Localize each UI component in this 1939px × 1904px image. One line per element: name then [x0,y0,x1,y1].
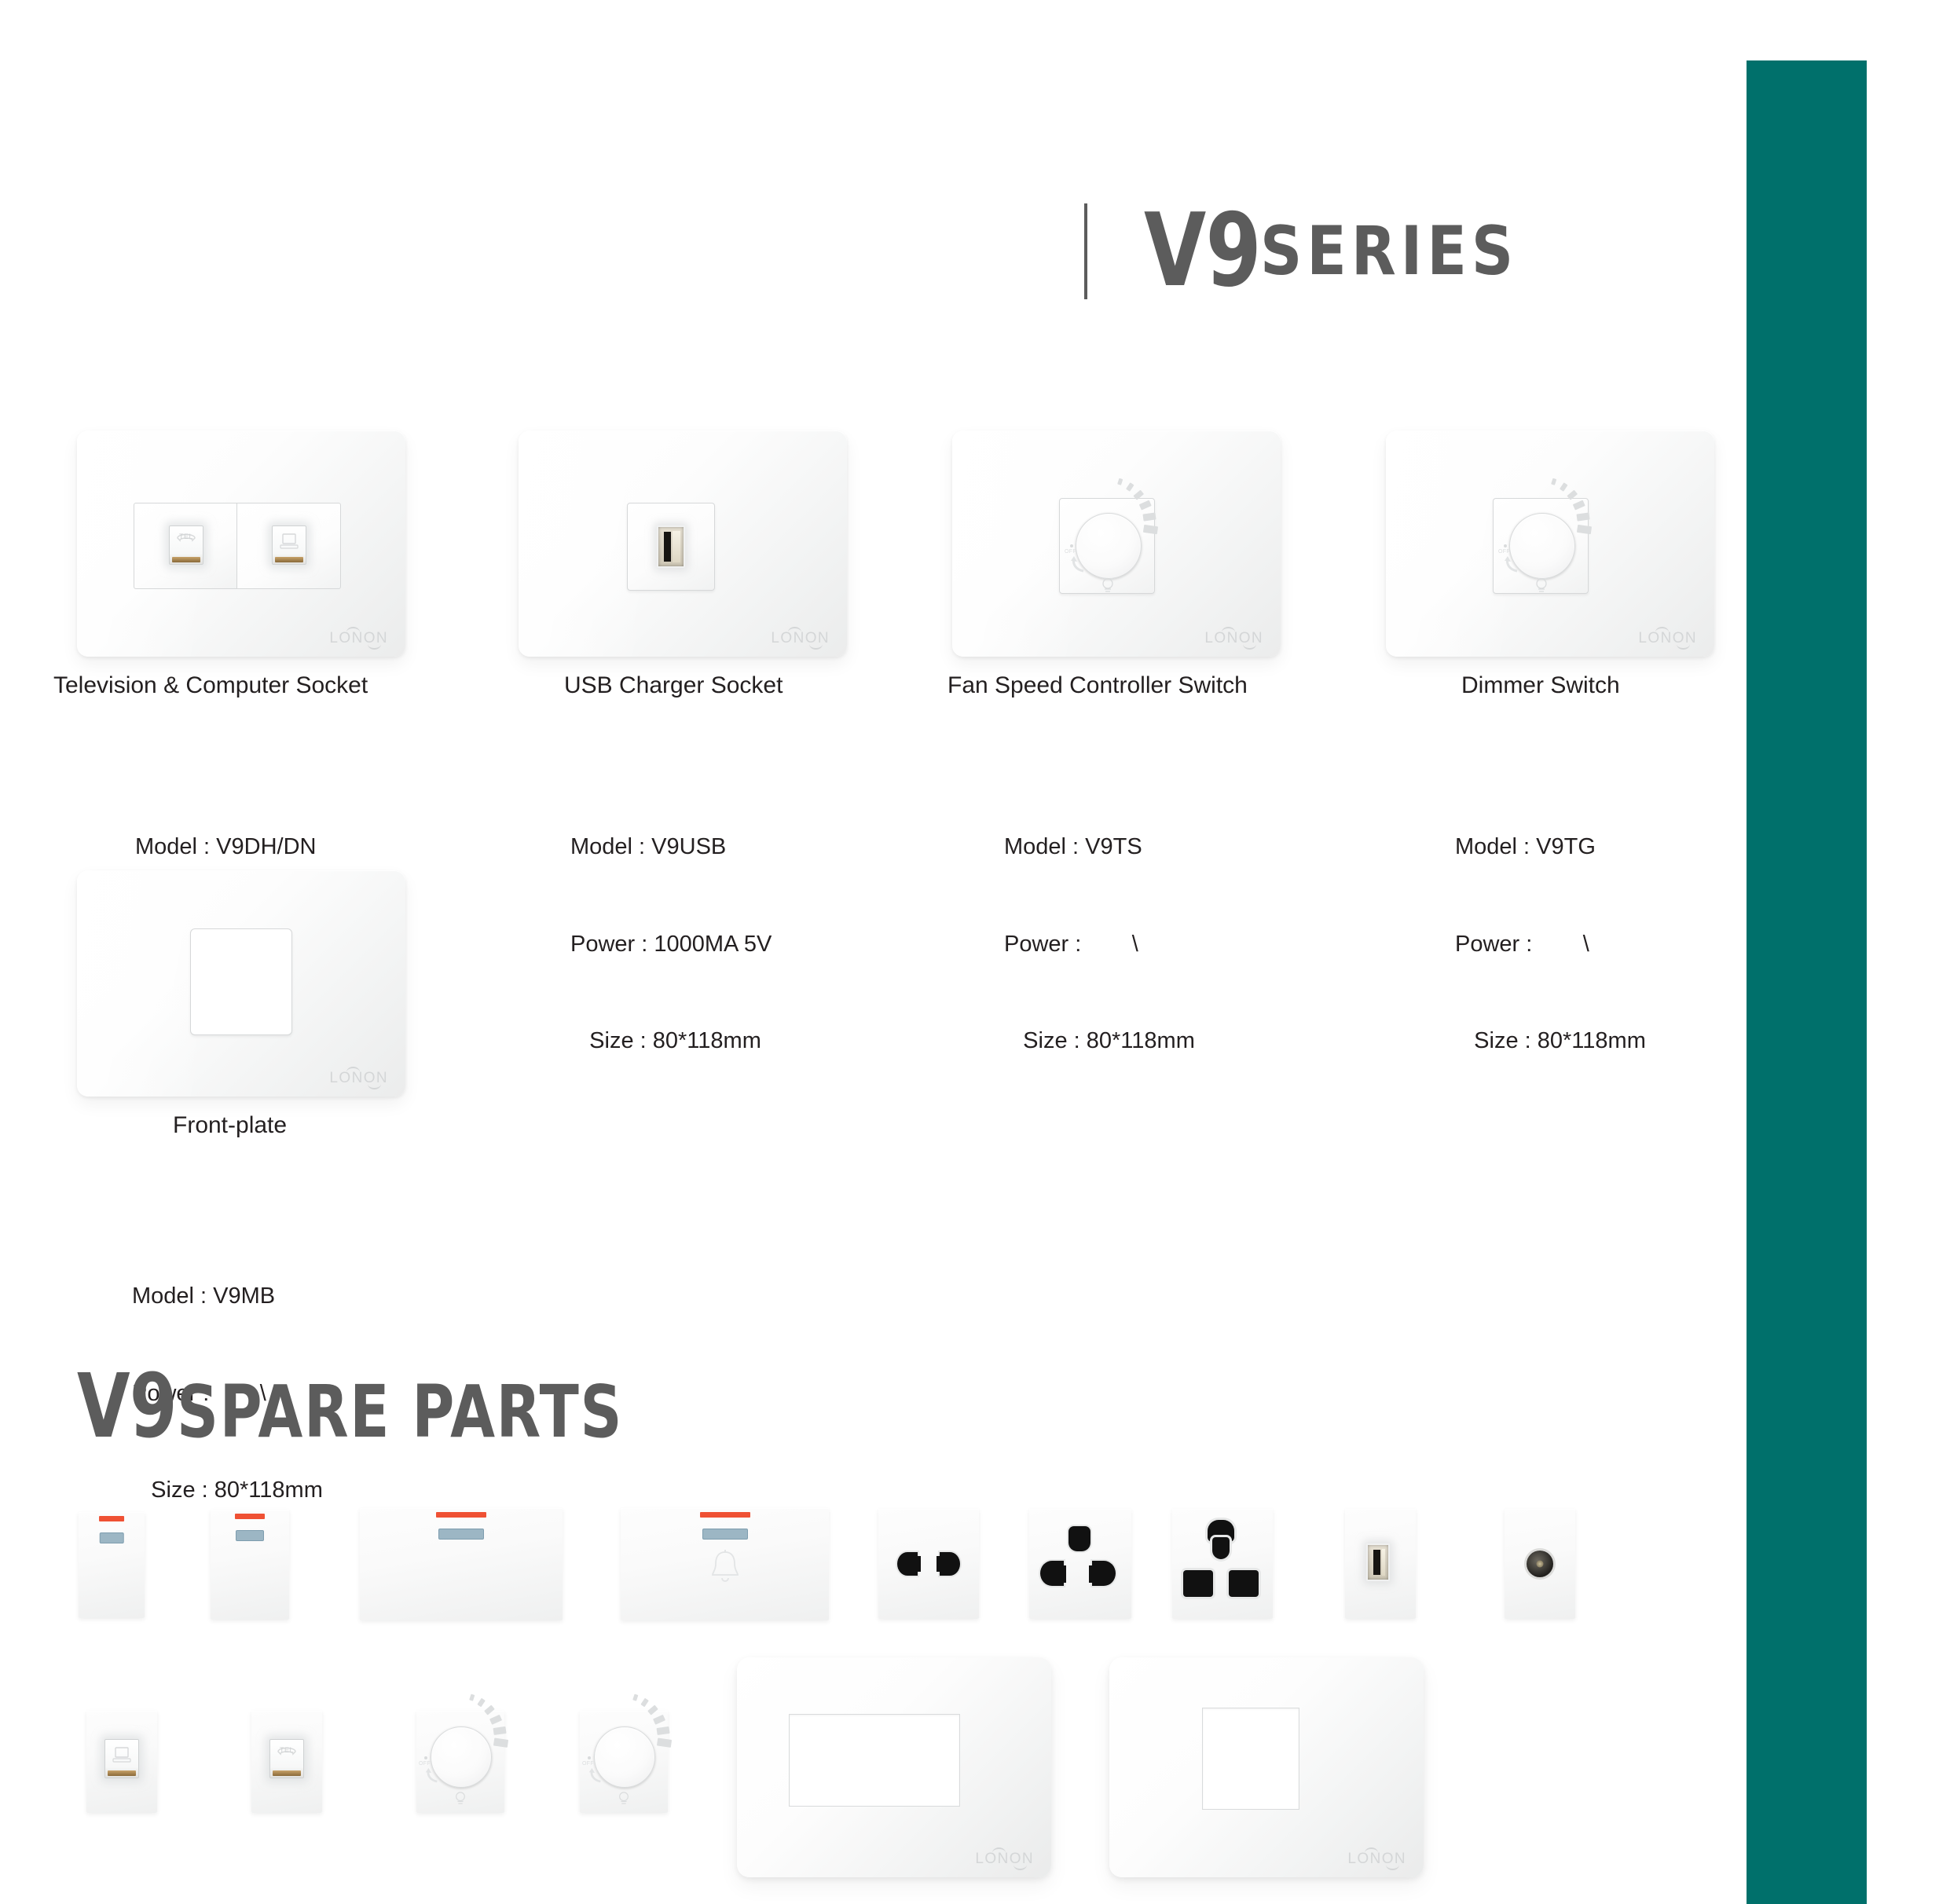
spare-dimmer-knob-module-icon[interactable]: OFF [416,1711,504,1813]
spec-model: Model : V9MB [132,1280,323,1313]
lamp-icon [618,1791,630,1805]
spare-parts-heading: V9 SPARE PARTS [77,1363,735,1451]
spec-size: Size : 80*118mm [1004,1025,1195,1057]
spec-model: Model : V9DH/DN [135,831,326,863]
product-spec-block: Model : V9TS Power : \ Size : 80*118mm [1004,767,1195,1090]
telephone-jack-icon: TEL [269,1739,304,1778]
usb-port-icon [657,525,685,568]
lamp-icon [1101,577,1115,593]
page-title-sub: SERIES [1260,218,1518,285]
product-image: LONON [519,430,847,657]
spare-telephone-jack-icon[interactable]: TEL [251,1711,322,1813]
spec-model: Model : V9TS [1004,831,1195,863]
brand-logo: LONON [975,1851,1034,1866]
product-name: Television & Computer Socket [53,674,368,698]
rotate-arrow-icon [1503,554,1520,573]
plate-cutout [1202,1708,1299,1810]
off-position-dot [588,1756,591,1759]
fan-knob-icon: OFF [1059,498,1155,594]
spec-size: Size : 80*118mm [132,1474,323,1507]
usb-socket-icon [627,503,715,591]
rotate-arrow-icon [424,1766,440,1783]
spare-frontplate-wide-icon[interactable]: LONON [737,1657,1051,1877]
product-image: LONON [77,870,405,1097]
telephone-jack-icon: TEL [169,525,203,565]
off-position-dot [1070,544,1073,547]
spare-socket-multi-icon[interactable] [1172,1509,1273,1619]
off-position-dot [1504,544,1507,547]
product-card-front-plate[interactable]: LONON Front-plate [77,870,407,1097]
product-image: OFF LONON [952,430,1281,657]
spare-usb-module-icon[interactable] [1345,1509,1416,1619]
product-card-usb-charger-socket[interactable]: LONON USB Charger Socket [519,430,849,657]
spec-size: Size : 80*118mm [1455,1025,1646,1057]
product-spec-block: Model : V9USB Power : 1000MA 5V Size : 8… [570,767,772,1090]
rotate-arrow-icon [1069,554,1087,573]
product-image: OFF LONON [1386,430,1714,657]
product-name: Front-plate [173,1114,287,1137]
spare-rocker-switch-1g-icon[interactable] [79,1512,145,1618]
product-name: Fan Speed Controller Switch [948,674,1248,698]
product-card-fan-speed-controller-switch[interactable]: OFF LONON Fan Speed Controller Switch [952,430,1282,657]
product-image: TEL LONON [77,430,405,657]
spare-computer-jack-icon[interactable] [86,1711,157,1813]
lamp-icon [1534,577,1549,593]
coax-connector-icon [1527,1551,1553,1577]
rotate-arrow-icon [588,1766,603,1783]
dimmer-knob-icon: OFF [1493,498,1589,594]
product-card-television-computer-socket[interactable]: TEL LONON Television & Computer Socket [77,430,407,657]
spec-size: Size : 80*118mm [570,1025,772,1057]
spare-frontplate-square-icon[interactable]: LONON [1109,1657,1424,1877]
computer-jack-icon [272,525,306,565]
brand-logo: LONON [771,631,830,646]
page-title-main: V9 [1144,201,1261,302]
brand-logo: LONON [329,631,388,646]
brand-logo: LONON [1347,1851,1406,1866]
spec-power: Power : \ [1455,928,1646,961]
tel-computer-socket-icon: TEL [134,503,341,589]
brand-logo: LONON [1204,631,1263,646]
product-name: USB Charger Socket [564,674,783,698]
off-position-dot [424,1756,427,1759]
spare-socket-2pin-icon[interactable] [878,1509,979,1619]
product-name: Dimmer Switch [1461,674,1620,698]
lamp-icon [454,1791,467,1805]
spare-rocker-switch-wide-icon[interactable] [211,1510,289,1620]
brand-logo: LONON [1638,631,1697,646]
spec-model: Model : V9USB [570,831,772,863]
spare-tv-coax-module-icon[interactable] [1505,1509,1575,1619]
product-card-dimmer-switch[interactable]: OFF LONON Dimmer Switch [1386,430,1716,657]
brand-logo: LONON [329,1071,388,1086]
spare-bell-switch-icon[interactable] [621,1508,829,1620]
spare-parts-heading-sub: SPARE PARTS [177,1376,623,1448]
spare-rocker-switch-2g-icon[interactable] [360,1508,563,1620]
title-divider-rule [1084,203,1087,299]
spec-power: Power : \ [1004,928,1195,961]
spare-fan-knob-module-icon[interactable]: OFF [580,1711,668,1813]
usb-port-icon [1366,1543,1390,1581]
spare-socket-universal-icon[interactable] [1029,1509,1131,1619]
bell-icon [709,1548,742,1584]
product-spec-block: Model : V9TG Power : \ Size : 80*118mm [1455,767,1646,1090]
page-title: V9 SERIES [1084,200,1560,302]
computer-jack-icon [104,1739,139,1778]
blank-frontplate-icon [190,928,292,1035]
accent-sidebar [1747,60,1867,1904]
spec-power: Power : 1000MA 5V [570,928,772,961]
spec-model: Model : V9TG [1455,831,1646,863]
plate-cutout [789,1714,960,1807]
spare-parts-heading-main: V9 [77,1363,177,1451]
